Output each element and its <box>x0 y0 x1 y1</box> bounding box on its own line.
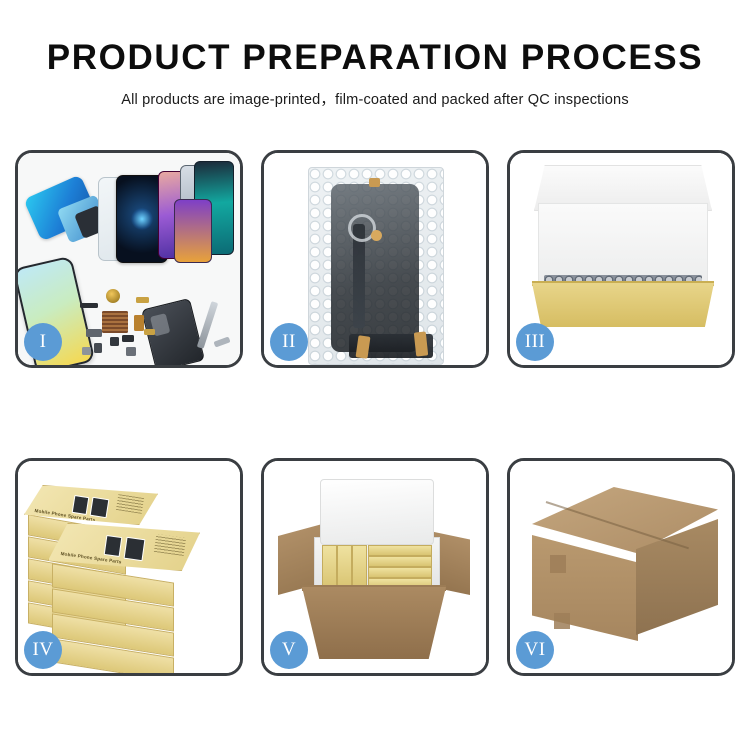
logic-board-icon <box>102 311 128 333</box>
process-step-panel-2: II <box>261 150 489 368</box>
step-badge-6: VI <box>516 631 554 669</box>
step-badge-1: I <box>24 323 62 361</box>
process-step-panel-5: V <box>261 458 489 676</box>
process-step-panel-6: VI <box>507 458 735 676</box>
header: PRODUCT PREPARATION PROCESS All products… <box>0 0 750 109</box>
kraft-inner-box-icon <box>532 283 714 327</box>
box-label-phone-image <box>104 535 123 557</box>
yellow-inner-box <box>337 545 352 589</box>
process-step-panel-1: I <box>15 150 243 368</box>
page-title: PRODUCT PREPARATION PROCESS <box>0 0 750 77</box>
spare-part-icon <box>80 303 98 308</box>
yellow-inner-box <box>368 545 432 556</box>
sensor-icon <box>122 335 134 342</box>
camera-module-icon <box>110 337 119 346</box>
process-step-grid: I II <box>15 150 735 730</box>
yellow-inner-box <box>322 545 337 589</box>
page-subtitle: All products are image-printed，film-coat… <box>0 77 750 109</box>
button-part-icon <box>94 343 102 353</box>
box-label-spec-lines <box>116 494 144 514</box>
speaker-coil-icon <box>106 289 120 303</box>
box-label-phone-image <box>72 495 90 515</box>
step-badge-3: III <box>516 323 554 361</box>
bracket-icon <box>86 329 102 337</box>
step-badge-5: V <box>270 631 308 669</box>
flex-cable-icon <box>353 224 365 328</box>
lcd-screen-icon <box>331 184 419 352</box>
box-label-phone-image <box>124 537 146 561</box>
foam-box-lid-icon <box>320 479 434 545</box>
ribbon-cable-icon <box>134 315 144 331</box>
yellow-inner-box <box>368 556 432 567</box>
step-badge-4: IV <box>24 631 62 669</box>
flex-connector-icon <box>136 297 149 303</box>
yellow-inner-box <box>368 567 432 578</box>
tape-tab-icon <box>369 178 380 187</box>
yellow-inner-box <box>352 545 367 589</box>
orange-phone-icon <box>174 199 212 263</box>
box-label-spec-lines <box>154 534 186 556</box>
screw-set-icon <box>126 347 136 356</box>
process-step-panel-4: Mobile Phone Spare Parts Mobile Phone Sp… <box>15 458 243 676</box>
tape-strip-right-icon <box>414 331 428 356</box>
antenna-flex-icon <box>144 329 155 335</box>
box-label-phone-image <box>90 497 110 518</box>
carton-tape-lower-icon <box>554 613 570 629</box>
sim-tray-icon <box>82 347 91 355</box>
bubble-wrap-bag-icon <box>308 167 444 365</box>
tape-dot-icon <box>371 230 382 241</box>
step-badge-2: II <box>270 323 308 361</box>
process-step-panel-3: III <box>507 150 735 368</box>
product-preparation-infographic: PRODUCT PREPARATION PROCESS All products… <box>0 0 750 750</box>
carton-tape-upper-icon <box>550 555 566 573</box>
carton-body-icon <box>302 587 446 659</box>
